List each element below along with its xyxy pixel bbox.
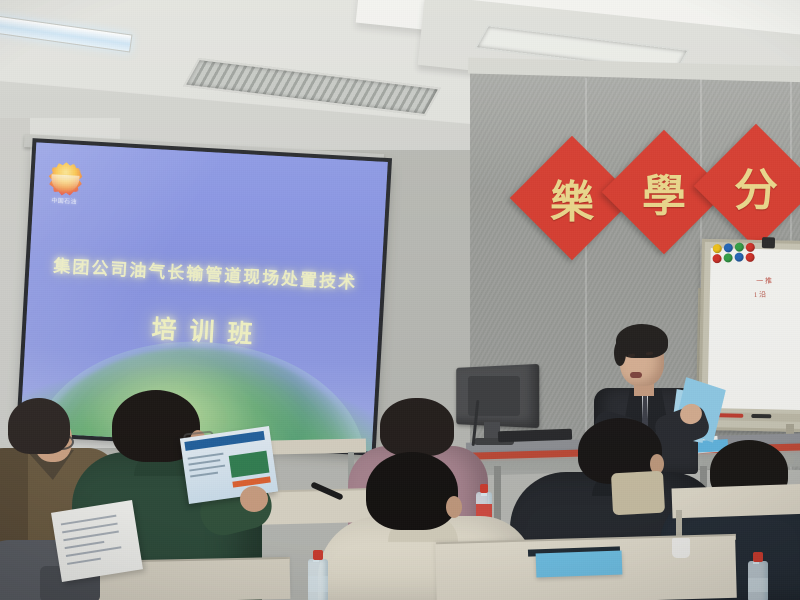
wall-panel-seam xyxy=(585,78,587,470)
paper-text-line xyxy=(65,541,105,549)
bottle-cap xyxy=(753,552,763,562)
handout-papers xyxy=(51,500,143,582)
blue-booklet xyxy=(536,551,623,578)
brochure-text-line xyxy=(189,465,225,472)
brochure-text-line xyxy=(190,472,218,478)
brochure-photo xyxy=(229,451,270,478)
banner-character: 學 xyxy=(620,148,708,236)
whiteboard-note-line-2: 1 沿 xyxy=(754,289,800,300)
presenter-hair-side xyxy=(614,340,626,366)
right-desk xyxy=(672,484,800,519)
water-bottle xyxy=(748,552,768,600)
water-bottle xyxy=(308,550,328,600)
training-room-photo: 中国石油 集团公司油气长输管道现场处置技术 培训班 樂 學 分 一 推 1 沿 xyxy=(0,0,800,600)
whiteboard-marker xyxy=(717,413,743,418)
chair-back xyxy=(611,471,665,516)
attendee-hair xyxy=(380,398,454,456)
paper-text-line xyxy=(63,530,119,541)
attendee-hair xyxy=(8,398,70,454)
whiteboard-marker xyxy=(751,414,771,418)
binder-clip xyxy=(762,237,775,248)
attendee-ear xyxy=(446,496,462,518)
banner-character: 樂 xyxy=(528,154,616,242)
attendee-hand xyxy=(240,486,268,512)
bottle-label xyxy=(308,576,328,592)
bottle-label xyxy=(748,578,768,592)
paper-text-line xyxy=(66,546,122,557)
presenter-mouth xyxy=(630,372,642,378)
bottle-cap xyxy=(313,550,323,560)
banner-character: 分 xyxy=(712,142,800,230)
brochure-text-line xyxy=(188,459,220,465)
whiteboard-note-line-1: 一 推 xyxy=(756,275,800,287)
whiteboard-surface: 一 推 1 沿 xyxy=(707,248,800,410)
paper-cup xyxy=(672,538,690,558)
attendee-hair xyxy=(366,452,458,530)
paper-text-line xyxy=(67,558,101,565)
